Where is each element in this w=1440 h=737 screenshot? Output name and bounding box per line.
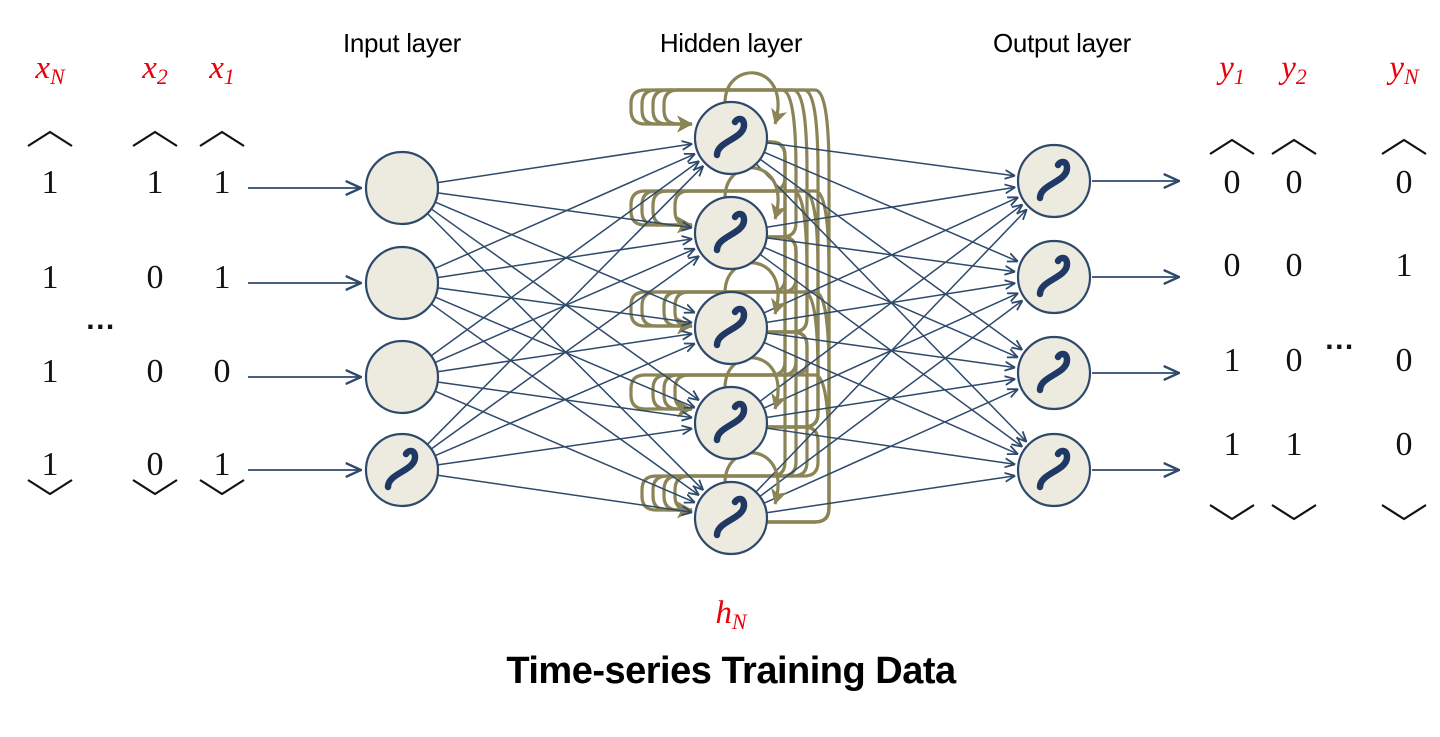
edge-input-0-hidden-4 (427, 213, 702, 489)
caret-up-y_1 (1210, 140, 1254, 154)
hidden-layer-label: Hidden layer (621, 28, 841, 59)
input-ellipsis: ... (0, 305, 211, 335)
caret-down-y_1 (1210, 505, 1254, 519)
variable-label-y_N: yN (1294, 50, 1440, 90)
hidden-state-label: hN (621, 595, 841, 635)
input-arrows-group (248, 188, 360, 470)
input-node-circle-0[interactable] (366, 152, 438, 224)
output-ellipsis: ... (1230, 325, 1440, 355)
input-value-x_1-row3: 1 (112, 446, 332, 484)
edge-hidden-3-output-0 (760, 205, 1022, 401)
edge-hidden-0-output-0 (767, 143, 1015, 176)
edge-input-3-hidden-0 (427, 166, 703, 444)
input-value-x_1-row2: 0 (112, 353, 332, 391)
input-node-3[interactable] (366, 434, 438, 506)
input-node-circle-1[interactable] (366, 247, 438, 319)
diagram-caption: Time-series Training Data (381, 650, 1081, 693)
edge-input-0-hidden-3 (431, 209, 698, 400)
output-node-0[interactable] (1018, 145, 1090, 217)
caret-up-y_N (1382, 140, 1426, 154)
input-node-2[interactable] (366, 341, 438, 413)
diagram-canvas: Input layerHidden layerOutput layerxN111… (0, 0, 1440, 737)
caret-up-y_2 (1272, 140, 1316, 154)
caret-down-y_N (1382, 505, 1426, 519)
edge-hidden-2-output-0 (764, 198, 1018, 314)
output-node-2[interactable] (1018, 337, 1090, 409)
caret-up-x_1 (200, 132, 244, 146)
caret-up-x_N (28, 132, 72, 146)
edge-input-3-hidden-1 (431, 256, 698, 449)
caret-down-y_2 (1272, 505, 1316, 519)
hidden-node-3[interactable] (695, 387, 767, 459)
edge-input-1-hidden-0 (435, 154, 694, 268)
input-value-x_1-row0: 1 (112, 164, 332, 202)
hidden-node-1[interactable] (695, 197, 767, 269)
output-value-y_N-row1: 1 (1294, 247, 1440, 285)
caret-up-x_2 (133, 132, 177, 146)
input-node-0[interactable] (366, 152, 438, 224)
hidden-node-2[interactable] (695, 292, 767, 364)
edge-hidden-4-output-2 (764, 389, 1018, 503)
output-node-1[interactable] (1018, 241, 1090, 313)
edge-hidden-4-output-3 (767, 476, 1015, 513)
edge-input-3-hidden-2 (435, 344, 694, 456)
nodes-group (366, 102, 1090, 554)
output-value-y_N-row0: 0 (1294, 164, 1440, 202)
hidden-node-0[interactable] (695, 102, 767, 174)
output-node-3[interactable] (1018, 434, 1090, 506)
output-value-y_N-row3: 0 (1294, 426, 1440, 464)
variable-label-x_1: x1 (112, 50, 332, 90)
input-value-x_1-row1: 1 (112, 259, 332, 297)
edge-input-0-hidden-0 (438, 144, 692, 183)
hidden-node-4[interactable] (695, 482, 767, 554)
input-node-circle-2[interactable] (366, 341, 438, 413)
input-node-1[interactable] (366, 247, 438, 319)
edge-input-3-hidden-3 (438, 429, 692, 465)
